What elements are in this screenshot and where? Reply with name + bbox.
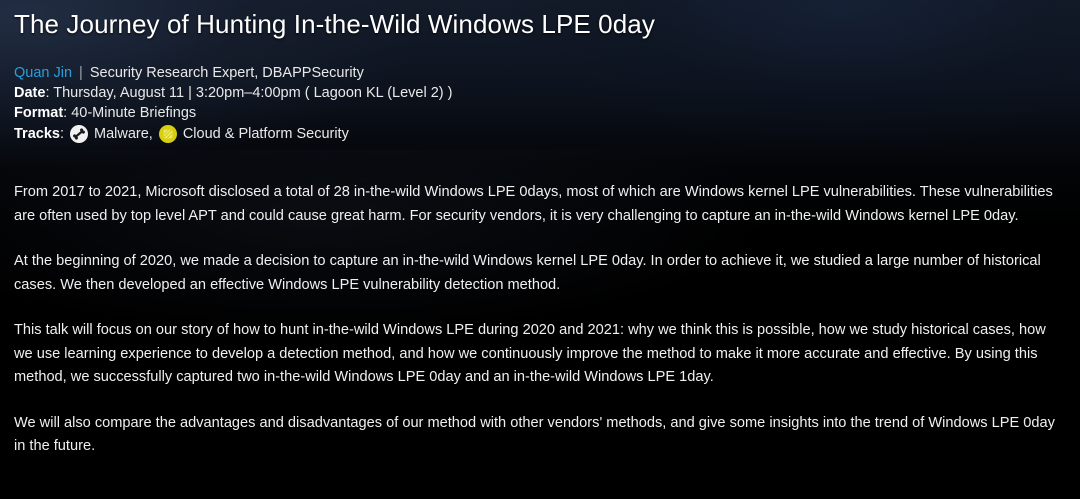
tracks-label: Tracks bbox=[14, 123, 60, 145]
abstract-paragraph: At the beginning of 2020, we made a deci… bbox=[14, 250, 1066, 297]
content-container: The Journey of Hunting In-the-Wild Windo… bbox=[0, 0, 1080, 459]
speaker-row: Quan Jin|Security Research Expert, DBAPP… bbox=[14, 63, 1066, 83]
abstract-body: From 2017 to 2021, Microsoft disclosed a… bbox=[14, 181, 1066, 459]
date-value: : Thursday, August 11 | 3:20pm–4:00pm ( … bbox=[45, 85, 452, 101]
page-title: The Journey of Hunting In-the-Wild Windo… bbox=[14, 0, 1066, 40]
speaker-affiliation: Security Research Expert, DBAPPSecurity bbox=[90, 65, 364, 81]
abstract-paragraph: From 2017 to 2021, Microsoft disclosed a… bbox=[14, 181, 1066, 228]
speaker-name-link[interactable]: Quan Jin bbox=[14, 65, 72, 81]
track-malware[interactable]: Malware, bbox=[64, 123, 153, 145]
session-detail-page: The Journey of Hunting In-the-Wild Windo… bbox=[0, 0, 1080, 499]
abstract-paragraph: This talk will focus on our story of how… bbox=[14, 319, 1066, 390]
format-value: : 40-Minute Briefings bbox=[63, 105, 196, 121]
format-row: Format: 40-Minute Briefings bbox=[14, 103, 1066, 123]
tracks-row: Tracks: bbox=[14, 123, 1066, 145]
format-label: Format bbox=[14, 105, 63, 121]
date-label: Date bbox=[14, 85, 45, 101]
session-metadata: Quan Jin|Security Research Expert, DBAPP… bbox=[14, 63, 1066, 145]
track-cloud-platform-security-label: Cloud & Platform Security bbox=[183, 123, 349, 145]
abstract-paragraph: We will also compare the advantages and … bbox=[14, 412, 1066, 459]
track-cloud-platform-security[interactable]: Cloud & Platform Security bbox=[153, 123, 349, 145]
date-row: Date: Thursday, August 11 | 3:20pm–4:00p… bbox=[14, 83, 1066, 103]
cloud-platform-security-track-icon bbox=[159, 125, 177, 143]
track-malware-label: Malware, bbox=[94, 123, 153, 145]
malware-track-icon bbox=[70, 125, 88, 143]
speaker-separator: | bbox=[72, 65, 90, 81]
